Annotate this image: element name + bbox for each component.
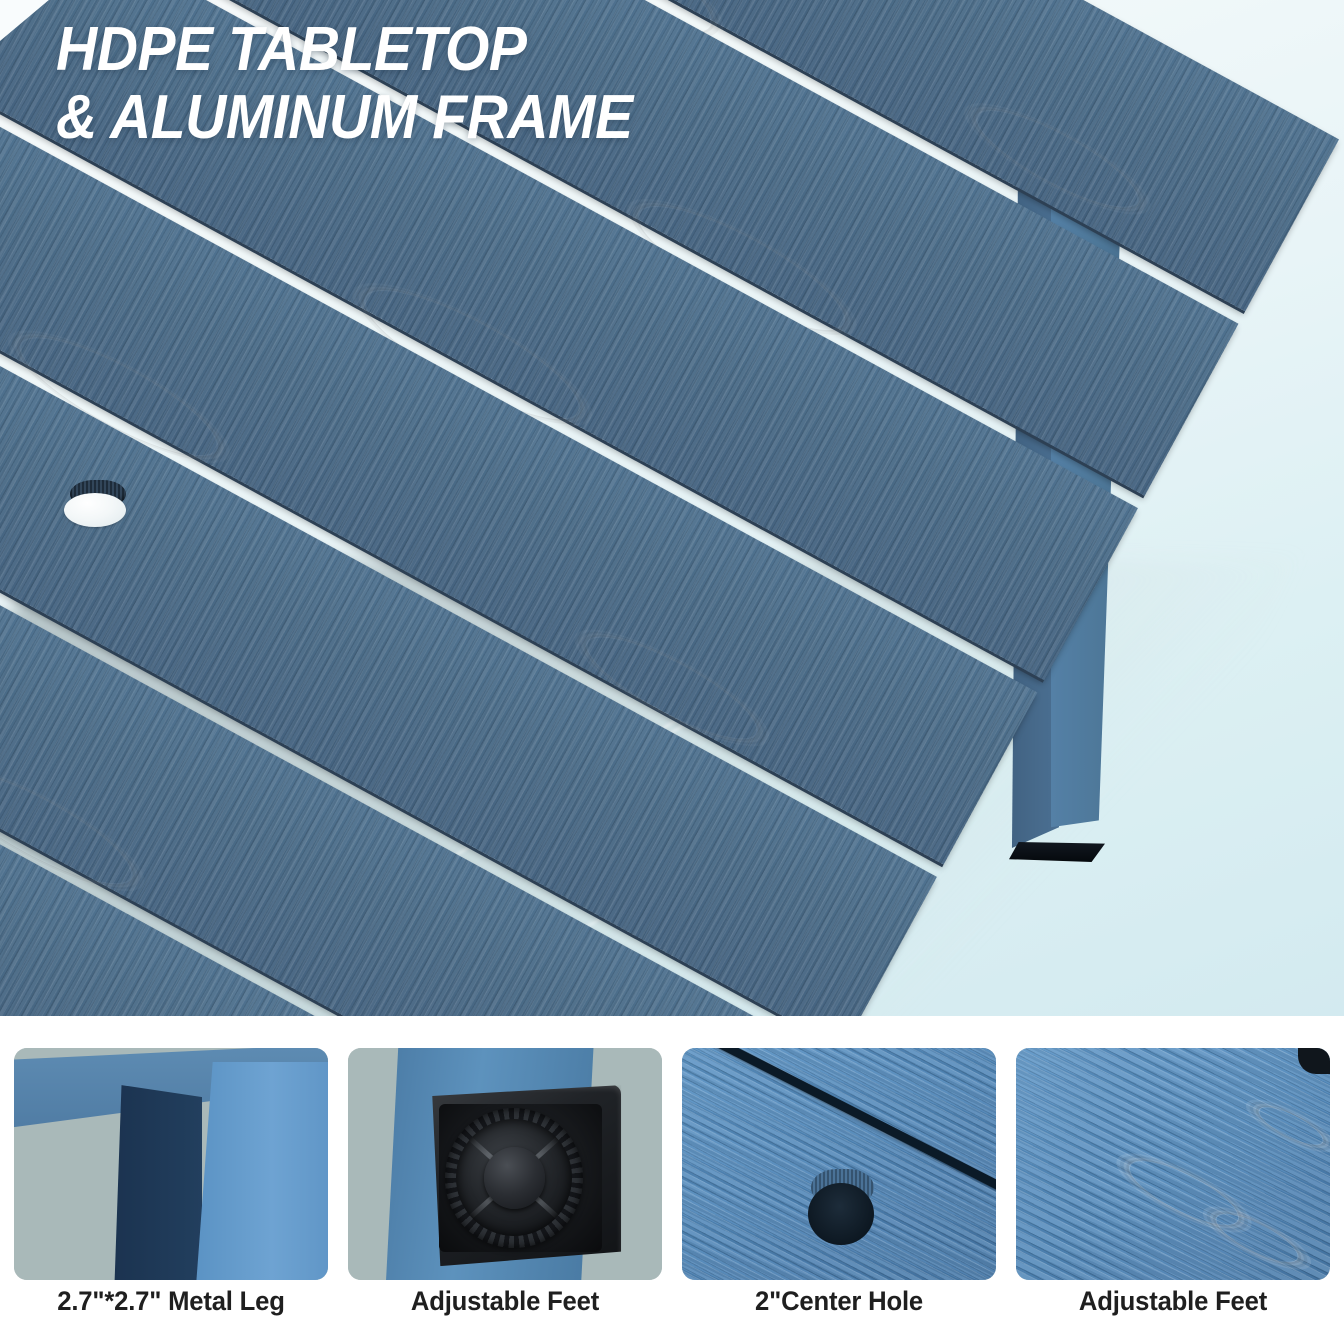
headline-line-1: HDPE TABLETOP (56, 16, 633, 84)
caption-metal-leg: 2.7"*2.7" Metal Leg (22, 1286, 320, 1332)
center-hole-disc (64, 493, 126, 527)
caption-center-hole: 2"Center Hole (690, 1286, 988, 1332)
headline: HDPE TABLETOP & ALUMINUM FRAME (56, 16, 633, 152)
thumbnail-strip (0, 1048, 1344, 1280)
thumb2-dial-hub (484, 1147, 545, 1208)
headline-line-2: & ALUMINUM FRAME (56, 84, 633, 152)
thumb1-leg-shadow-face (114, 1085, 202, 1280)
thumbnail-hdpe-grain[interactable] (1016, 1048, 1330, 1280)
caption-row: 2.7"*2.7" Metal Leg Adjustable Feet 2"Ce… (0, 1286, 1344, 1332)
thumbnail-adjustable-foot[interactable] (348, 1048, 662, 1280)
caption-adjustable-foot: Adjustable Feet (356, 1286, 654, 1332)
caption-adjustable-feet: Adjustable Feet (1024, 1286, 1322, 1332)
thumb2-knurled-dial (445, 1108, 583, 1247)
product-feature-image: HDPE TABLETOP & ALUMINUM FRAME (0, 0, 1344, 1344)
hero-image: HDPE TABLETOP & ALUMINUM FRAME (0, 0, 1344, 1016)
umbrella-center-hole (62, 480, 128, 530)
leg-foot-cap (1009, 842, 1105, 862)
thumbnail-metal-leg[interactable] (14, 1048, 328, 1280)
thumb1-leg-lit-face (196, 1062, 328, 1280)
thumbnail-center-hole[interactable] (682, 1048, 996, 1280)
thumb3-center-hole (808, 1183, 874, 1246)
